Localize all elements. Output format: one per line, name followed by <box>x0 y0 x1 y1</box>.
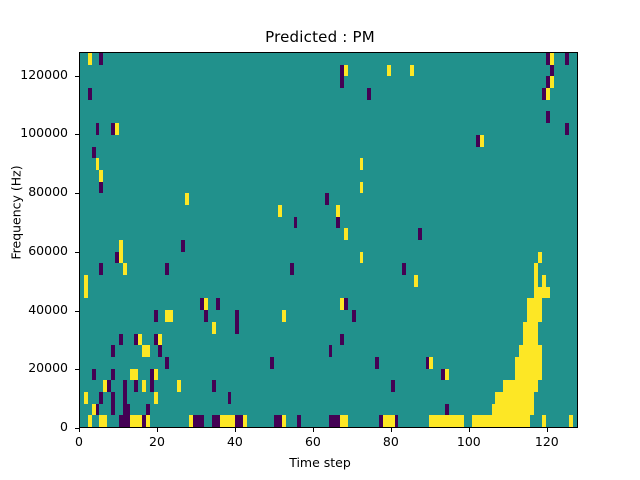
y-tick-mark <box>75 134 79 135</box>
x-tick-mark <box>391 428 392 432</box>
heatmap-cell <box>573 76 577 88</box>
y-tick-mark <box>75 428 79 429</box>
x-axis-title: Time step <box>0 455 640 470</box>
heatmap-cell <box>573 217 577 229</box>
heatmap-cell <box>573 111 577 123</box>
heatmap-cell <box>573 369 577 381</box>
y-tick-label: 20000 <box>0 360 68 375</box>
x-tick-label: 0 <box>49 434 109 449</box>
heatmap-cell <box>573 287 577 299</box>
heatmap-axes <box>79 52 578 428</box>
x-tick-label: 120 <box>517 434 577 449</box>
heatmap-cell <box>573 310 577 322</box>
x-tick-mark <box>547 428 548 432</box>
x-tick-mark <box>157 428 158 432</box>
heatmap-cell <box>573 182 577 194</box>
heatmap-cell <box>573 53 577 65</box>
y-tick-label: 120000 <box>0 67 68 82</box>
heatmap-cell <box>573 100 577 112</box>
matplotlib-figure: Predicted : PM 020406080100120 020000400… <box>0 0 640 480</box>
heatmap-cell <box>573 415 577 427</box>
heatmap-cell <box>573 334 577 346</box>
heatmap-cell <box>573 392 577 404</box>
x-tick-label: 20 <box>127 434 187 449</box>
heatmap-cell <box>573 147 577 159</box>
y-tick-mark <box>75 193 79 194</box>
heatmap-cell <box>573 123 577 135</box>
heatmap-cell <box>573 357 577 369</box>
heatmap-cell <box>573 158 577 170</box>
x-tick-label: 60 <box>283 434 343 449</box>
x-tick-mark <box>313 428 314 432</box>
heatmap-cell <box>573 404 577 416</box>
x-tick-mark <box>469 428 470 432</box>
heatmap-cell <box>573 170 577 182</box>
y-axis-title: Frequency (Hz) <box>9 93 24 333</box>
heatmap-cell <box>573 298 577 310</box>
x-tick-label: 40 <box>205 434 265 449</box>
heatmap-cell <box>573 193 577 205</box>
heatmap-cell <box>573 228 577 240</box>
y-tick-mark <box>75 252 79 253</box>
y-tick-mark <box>75 311 79 312</box>
heatmap-cell <box>573 380 577 392</box>
x-tick-mark <box>235 428 236 432</box>
heatmap-cell <box>573 345 577 357</box>
heatmap-cell <box>573 65 577 77</box>
heatmap-cell <box>573 205 577 217</box>
heatmap-cell <box>573 240 577 252</box>
page-title: Predicted : PM <box>0 28 640 46</box>
y-tick-mark <box>75 369 79 370</box>
heatmap-cell <box>573 275 577 287</box>
x-tick-mark <box>79 428 80 432</box>
heatmap-grid <box>80 53 577 427</box>
heatmap-cell <box>573 322 577 334</box>
heatmap-cell <box>573 135 577 147</box>
x-tick-label: 80 <box>361 434 421 449</box>
heatmap-cell <box>573 263 577 275</box>
x-tick-label: 100 <box>439 434 499 449</box>
y-tick-mark <box>75 76 79 77</box>
heatmap-cell <box>573 88 577 100</box>
y-tick-label: 0 <box>0 419 68 434</box>
heatmap-cell <box>573 252 577 264</box>
